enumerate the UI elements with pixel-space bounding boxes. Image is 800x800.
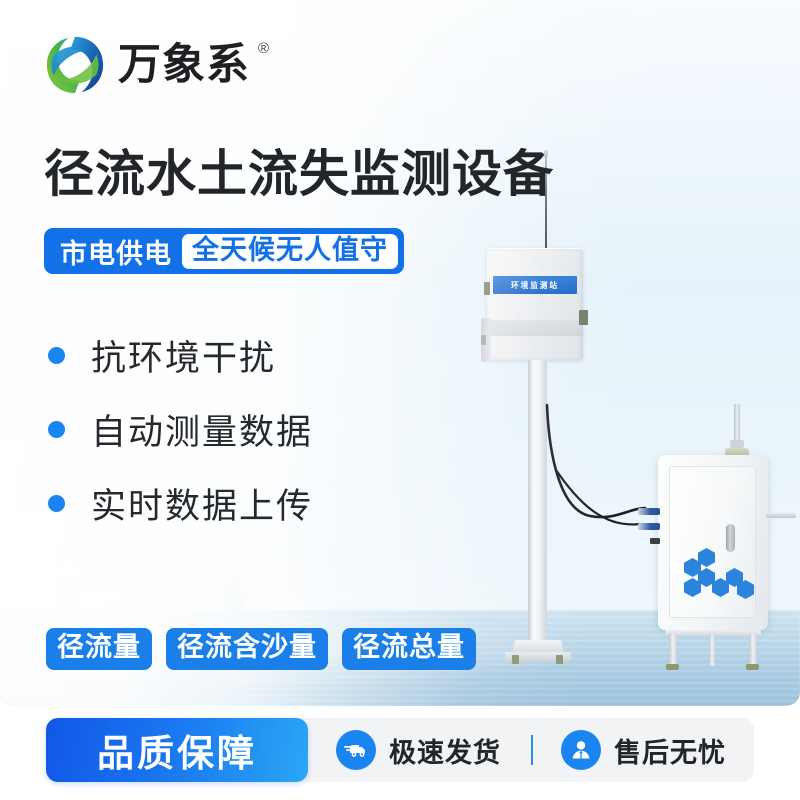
measurement-tag: 径流量 [46, 628, 152, 670]
quality-badge-label: 品质保障 [97, 723, 257, 777]
delivery-truck-icon [336, 730, 376, 770]
bullet-label: 自动测量数据 [91, 404, 313, 455]
feature-tag-secondary: 全天候无人值守 [182, 234, 398, 269]
bullet-label: 抗环境干扰 [91, 330, 276, 381]
measurement-tag-group: 径流量 径流含沙量 径流总量 [46, 628, 476, 670]
service-footer-bar: 品质保障 极速发货 [46, 718, 754, 782]
feature-tag-primary: 市电供电 [60, 232, 172, 271]
list-item: 抗环境干扰 [48, 318, 313, 392]
list-item: 实时数据上传 [48, 466, 313, 540]
measurement-tag: 径流总量 [342, 628, 476, 670]
brand-name-text: 万象系 [118, 41, 250, 89]
measurement-tag: 径流含沙量 [166, 628, 328, 670]
support-agent-icon [561, 730, 601, 770]
service-item-support: 售后无忧 [533, 730, 726, 770]
registered-mark-icon: ® [258, 41, 270, 56]
service-label: 极速发货 [389, 731, 501, 770]
page-title: 径流水土流失监测设备 [44, 134, 554, 206]
service-item-shipping: 极速发货 [308, 730, 501, 770]
quality-badge: 品质保障 [46, 718, 308, 782]
globe-swirl-logo-icon [44, 34, 106, 96]
feature-bullet-list: 抗环境干扰 自动测量数据 实时数据上传 [48, 318, 313, 540]
blue-dot-icon [48, 347, 65, 364]
product-banner: 环境监测站 [0, 0, 800, 800]
banner-content: 万象系 ® 径流水土流失监测设备 市电供电 全天候无人值守 抗环境干扰 自动测量… [0, 0, 800, 800]
brand-name: 万象系 ® [118, 44, 250, 87]
feature-tag-group: 市电供电 全天候无人值守 [44, 228, 404, 274]
service-label: 售后无忧 [614, 731, 726, 770]
blue-dot-icon [48, 421, 65, 438]
brand-logo: 万象系 ® [44, 34, 250, 96]
bullet-label: 实时数据上传 [91, 478, 313, 529]
blue-dot-icon [48, 495, 65, 512]
list-item: 自动测量数据 [48, 392, 313, 466]
